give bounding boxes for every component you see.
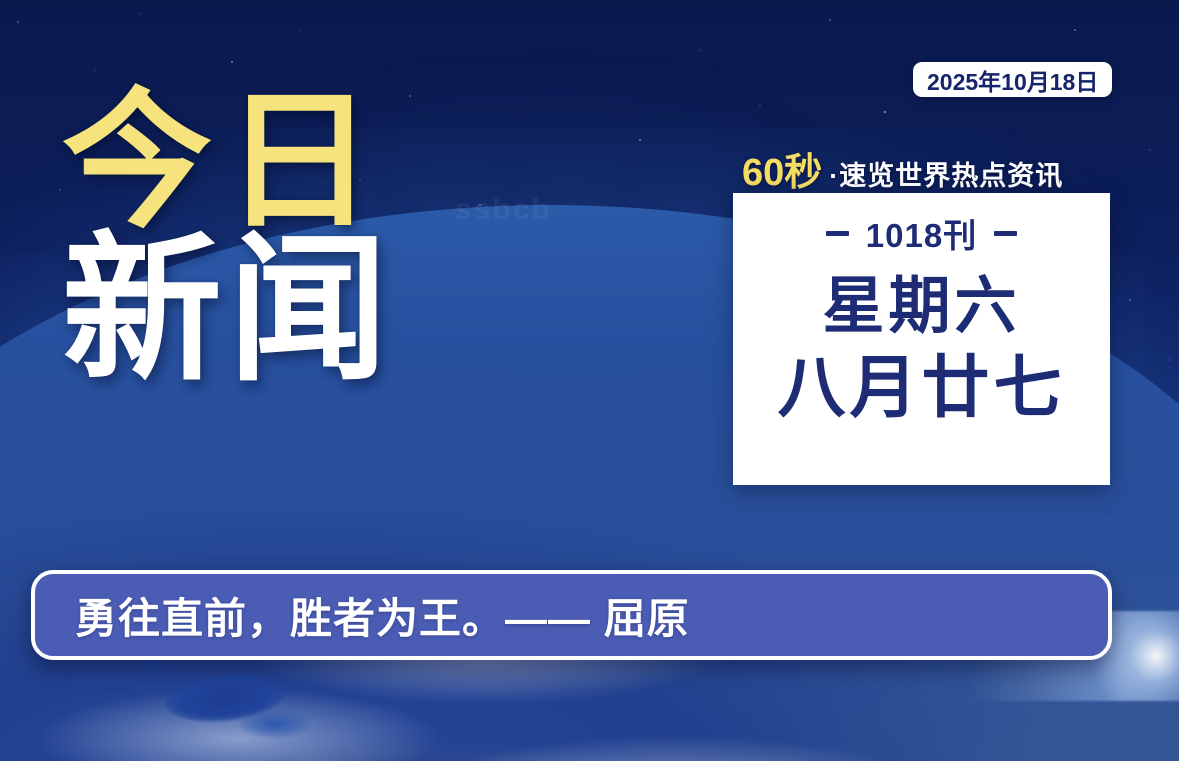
tagline: 60秒 ·速览世界热点资讯 — [742, 141, 1063, 196]
title-line-today: 今日 — [62, 92, 492, 230]
water-body-shape — [163, 669, 287, 727]
tagline-rest: ·速览世界热点资讯 — [829, 154, 1063, 193]
info-card: 1018刊 星期六 八月廿七 — [733, 193, 1110, 485]
tagline-highlight: 60秒 — [742, 141, 822, 196]
poster-title: 今日 新闻 — [62, 92, 492, 383]
news-poster: ssbcb 今日 新闻 2025年10月18日 60秒 ·速览世界热点资讯 10… — [0, 0, 1179, 761]
date-badge-label: 2025年10月18日 — [927, 63, 1098, 97]
quote-bar: 勇往直前，胜者为王。—— 屈原 — [31, 570, 1112, 660]
lunar-date-label: 八月廿七 — [777, 353, 1065, 424]
issue-row: 1018刊 — [826, 209, 1017, 257]
quote-text: 勇往直前，胜者为王。—— 屈原 — [75, 585, 690, 646]
dash-right-icon — [994, 231, 1017, 236]
weekday-label: 星期六 — [822, 274, 1020, 339]
issue-number: 1018刊 — [866, 209, 977, 257]
water-body-shape — [240, 710, 310, 738]
title-line-news: 新闻 — [62, 236, 492, 383]
dash-left-icon — [826, 231, 849, 236]
date-badge: 2025年10月18日 — [913, 62, 1112, 97]
